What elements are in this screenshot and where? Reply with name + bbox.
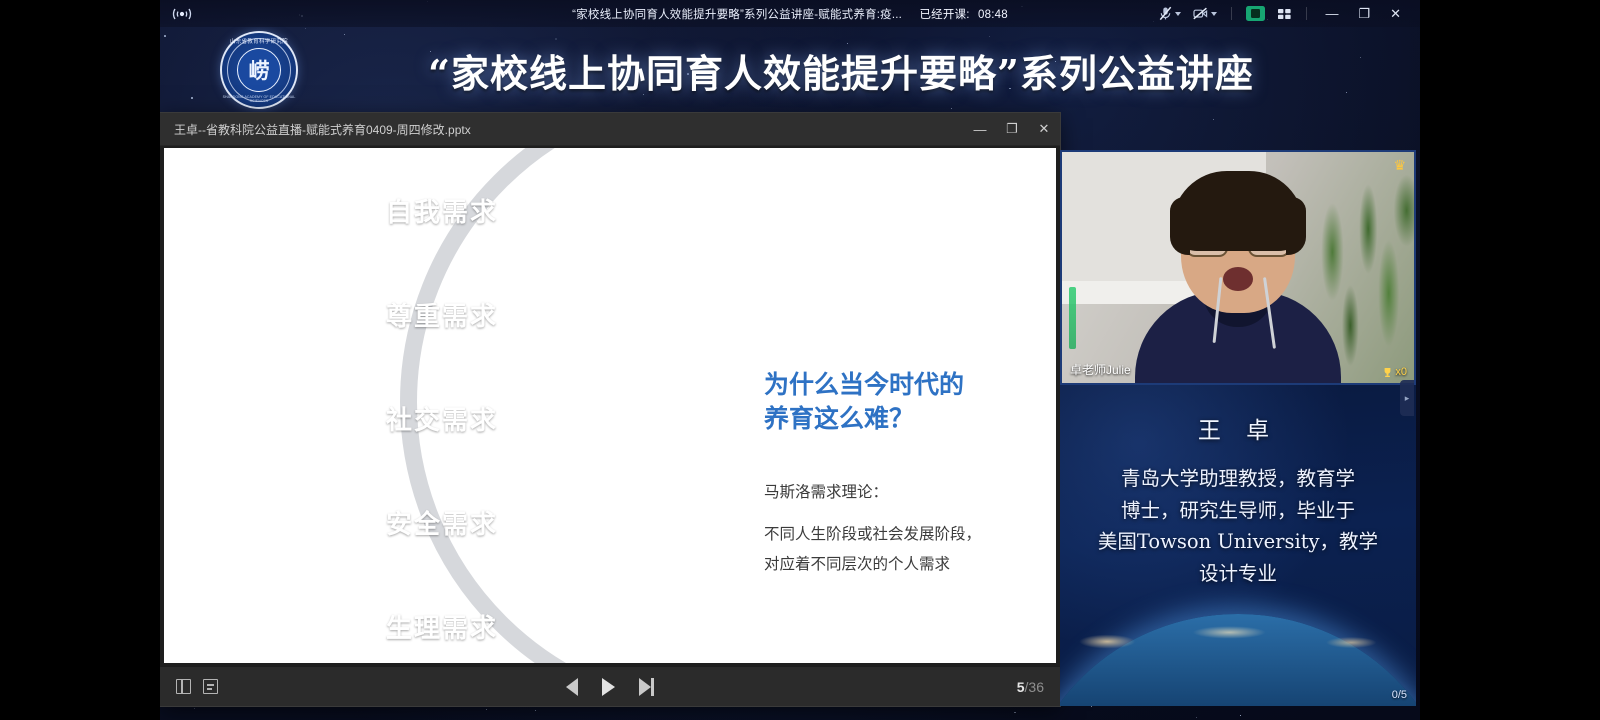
camera-muted-icon (1193, 7, 1208, 20)
window-close-button[interactable]: ✕ (1381, 4, 1410, 23)
speaker-bio-line: 青岛大学助理教授，教育学 (1074, 463, 1402, 495)
speaker-bio-line: 博士，研究生导师，毕业于 (1074, 495, 1402, 527)
next-slide-button[interactable] (639, 678, 655, 696)
slide-viewport: 自我需求 尊重需求 社交需求 安全需求 (160, 146, 1060, 666)
pyramid-level-physiological: 生理需求 (192, 578, 692, 663)
ppt-view-buttons (176, 679, 218, 694)
seal-bottom-text: SHANDONG ACADEMY OF EDUCATIONAL SCIENCES (222, 95, 296, 103)
pyramid-level-label: 生理需求 (386, 608, 498, 645)
slide-navigation (160, 678, 1060, 696)
slide-heading: 为什么当今时代的 养育这么难？ (764, 368, 1044, 436)
page-indicator: 0/5 (1392, 689, 1407, 701)
speaker-name: 王 卓 (1060, 411, 1416, 445)
share-screen-icon (1246, 6, 1265, 21)
slide-body-line1: 马斯洛需求理论： (764, 478, 1044, 508)
letterbox-right (1420, 0, 1600, 720)
slide-text-block: 为什么当今时代的 养育这么难？ 马斯洛需求理论： 不同人生阶段或社会发展阶段， … (764, 368, 1044, 581)
pyramid-level-social: 社交需求 (192, 370, 692, 466)
grid-view-button[interactable] (1272, 4, 1297, 24)
ppt-minimize-button[interactable]: — (964, 113, 996, 146)
elapsed-label: 已经开课: (919, 9, 969, 21)
ppt-close-button[interactable]: ✕ (1028, 113, 1060, 146)
broadcast-icon (172, 7, 192, 21)
microphone-muted-icon (1159, 6, 1172, 21)
elapsed-time: 08:48 (978, 9, 1008, 21)
shared-powerpoint-window: 王卓--省教科院公益直播-赋能式养育0409-周四修改.pptx — ❐ ✕ 自… (160, 113, 1060, 706)
ppt-bottom-toolbar: 5/36 (160, 666, 1060, 706)
speaker-bio-line: 美国Towson University，教学 (1074, 526, 1402, 558)
shandong-academy-seal-icon: 山东省教育科学研究院 崂 SHANDONG ACADEMY OF EDUCATI… (220, 31, 298, 109)
ppt-titlebar[interactable]: 王卓--省教科院公益直播-赋能式养育0409-周四修改.pptx — ❐ ✕ (160, 113, 1060, 146)
speaker-notes-icon[interactable] (203, 679, 218, 694)
pyramid-level-label: 安全需求 (386, 504, 498, 541)
slide-canvas: 自我需求 尊重需求 社交需求 安全需求 (164, 148, 1056, 663)
trophy-badge: x0 (1382, 366, 1407, 378)
participant-mouth (1223, 267, 1253, 291)
current-slide-number: 5 (1017, 679, 1025, 695)
slide-body-line2: 不同人生阶段或社会发展阶段， (764, 520, 1044, 550)
mic-level-indicator (1069, 287, 1076, 349)
pyramid-level-label: 社交需求 (386, 400, 498, 437)
meeting-title-text: “家校线上协同育人效能提升要略”系列公益讲座-赋能式养育:疫... (572, 9, 902, 21)
next-slide-triangle (639, 678, 651, 696)
letterbox-left (0, 0, 160, 720)
ppt-restore-button[interactable]: ❐ (996, 113, 1028, 146)
participant-figure (1135, 203, 1341, 383)
pyramid-level-self-actualization: 自我需求 (192, 162, 692, 258)
share-screen-button[interactable] (1241, 3, 1270, 24)
meeting-toolbar: “家校线上协同育人效能提升要略”系列公益讲座-赋能式养育:疫... 已经开课: … (160, 0, 1420, 27)
participant-video-tile[interactable]: ♛ 卓老师Julie x0 (1060, 150, 1416, 385)
toolbar-divider-2 (1306, 7, 1307, 20)
pyramid-level-esteem: 尊重需求 (192, 266, 692, 362)
total-slide-number: 36 (1028, 679, 1044, 695)
ppt-filename: 王卓--省教科院公益直播-赋能式养育0409-周四修改.pptx (174, 121, 471, 138)
event-banner: 山东省教育科学研究院 崂 SHANDONG ACADEMY OF EDUCATI… (160, 27, 1420, 113)
participant-name-label: 卓老师Julie (1070, 361, 1131, 378)
play-slideshow-button[interactable] (602, 678, 615, 696)
host-crown-icon: ♛ (1393, 158, 1406, 172)
seal-top-text: 山东省教育科学研究院 (222, 37, 296, 45)
camera-dropdown-caret[interactable] (1211, 12, 1217, 16)
pyramid-level-safety: 安全需求 (192, 474, 692, 570)
seal-ring (227, 38, 291, 102)
participant-hair (1172, 171, 1304, 251)
microphone-dropdown-caret[interactable] (1175, 12, 1181, 16)
slide-pane-icon[interactable] (176, 679, 191, 694)
trophy-count: x0 (1395, 366, 1407, 378)
trophy-icon (1382, 367, 1393, 378)
grid-view-icon (1277, 7, 1292, 21)
slide-heading-line2: 养育这么难？ (764, 402, 1044, 436)
microphone-muted-button[interactable] (1154, 3, 1186, 24)
window-restore-button[interactable]: ❐ (1349, 4, 1379, 23)
slide-counter: 5/36 (1017, 679, 1044, 695)
slide-heading-line1: 为什么当今时代的 (764, 368, 1044, 402)
earth-graphic (1060, 614, 1416, 706)
speaker-info-card: 王 卓 青岛大学助理教授，教育学 博士，研究生导师，毕业于 美国Towson U… (1060, 385, 1416, 706)
maslow-pyramid-diagram: 自我需求 尊重需求 社交需求 安全需求 (192, 158, 692, 658)
meeting-controls: — ❐ ✕ (1154, 3, 1420, 24)
ppt-window-controls: — ❐ ✕ (964, 113, 1060, 146)
chevron-right-icon[interactable]: ▸ (1400, 380, 1414, 416)
pyramid-level-label: 尊重需求 (386, 296, 498, 333)
screen-root: “家校线上协同育人效能提升要略”系列公益讲座-赋能式养育:疫... 已经开课: … (0, 0, 1600, 720)
previous-slide-button[interactable] (566, 678, 578, 696)
speaker-bio-line: 设计专业 (1074, 558, 1402, 590)
pyramid-level-label: 自我需求 (386, 192, 498, 229)
window-minimize-button[interactable]: — (1316, 4, 1347, 23)
camera-muted-button[interactable] (1188, 4, 1222, 23)
next-slide-bar (651, 678, 655, 696)
participant-column: ♛ 卓老师Julie x0 王 卓 青岛大学助理教授，教育学 博士，研究生导师，… (1060, 150, 1416, 706)
slide-body-line3: 对应着不同层次的个人需求 (764, 550, 1044, 580)
slide-body: 马斯洛需求理论： 不同人生阶段或社会发展阶段， 对应着不同层次的个人需求 (764, 478, 1044, 581)
toolbar-divider-1 (1231, 7, 1232, 20)
event-headline: “家校线上协同育人效能提升要略”系列公益讲座 (298, 43, 1384, 98)
speaker-bio: 青岛大学助理教授，教育学 博士，研究生导师，毕业于 美国Towson Unive… (1074, 463, 1402, 589)
